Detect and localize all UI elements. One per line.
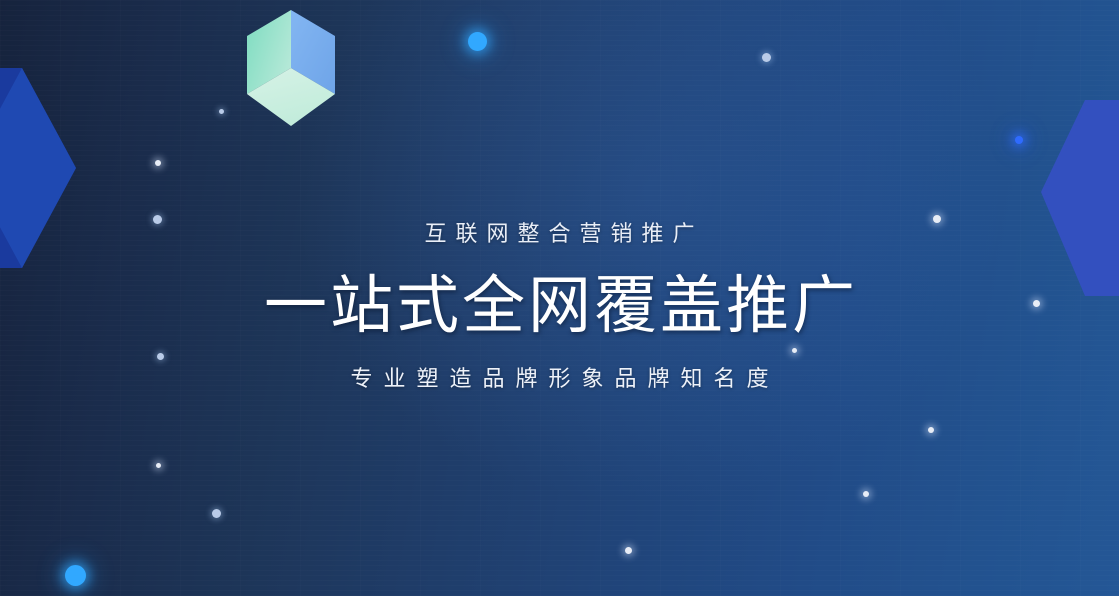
page-title: 一站式全网覆盖推广 (0, 269, 1119, 343)
hero-text-block: 互联网整合营销推广 一站式全网覆盖推广 专业塑造品牌形象品牌知名度 (0, 218, 1119, 395)
particle-dot (65, 565, 86, 586)
particle-dot (928, 427, 934, 433)
particle-dot (762, 53, 771, 62)
particle-dot (156, 463, 161, 468)
particle-dot (1015, 136, 1023, 144)
hero-banner: 互联网整合营销推广 一站式全网覆盖推广 专业塑造品牌形象品牌知名度 (0, 0, 1119, 596)
particle-dot (863, 491, 869, 497)
tagline-top: 互联网整合营销推广 (0, 218, 1119, 250)
particle-dot (219, 109, 224, 114)
particle-dot (155, 160, 161, 166)
cube-logo (243, 6, 339, 130)
particle-dot (625, 547, 632, 554)
particle-dot (212, 509, 221, 518)
particle-dot (468, 32, 487, 51)
tagline-bottom: 专业塑造品牌形象品牌知名度 (0, 363, 1119, 395)
